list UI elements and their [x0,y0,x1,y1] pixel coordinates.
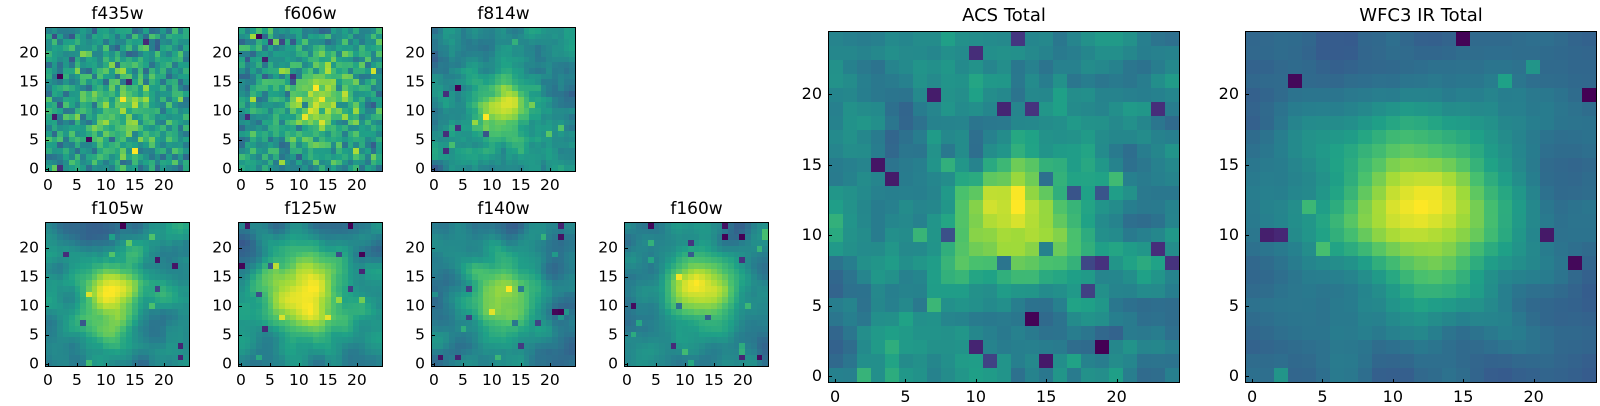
heatmap-pixel [1165,242,1179,256]
heatmap-pixel [843,186,857,200]
heatmap-pixel [1011,102,1025,116]
heatmap-pixel [829,60,843,74]
heatmap-pixel [843,256,857,270]
heatmap-pixel [1137,200,1151,214]
x-tick-label: 0 [622,373,632,389]
y-tick-mark [238,140,242,141]
x-tick-label: 10 [482,178,502,194]
heatmap-pixel [1109,270,1123,284]
heatmap-pixel [1137,242,1151,256]
heatmap-pixel [829,200,843,214]
heatmap-pixel [1123,46,1137,60]
heatmap-pixel [1137,158,1151,172]
heatmap-pixel [983,200,997,214]
heatmap-pixel [983,74,997,88]
y-tick-label: 10 [1,298,39,314]
y-tick-label: 10 [387,298,425,314]
heatmap-pixel [1039,102,1053,116]
heatmap-pixel [857,228,871,242]
heatmap-pixel [955,144,969,158]
y-tick-label: 15 [387,269,425,285]
heatmap-pixel [1123,186,1137,200]
x-tick-mark [463,168,464,172]
y-tick-mark [431,111,435,112]
heatmap-pixel [983,256,997,270]
heatmap-pixel [899,172,913,186]
heatmap-pixel [969,242,983,256]
heatmap-pixel [955,270,969,284]
heatmap-pixel [1067,116,1081,130]
heatmap-pixel [1053,46,1067,60]
heatmap-f814w [431,27,576,172]
panel-title-f125w: f125w [238,201,383,218]
heatmap-pixel [941,46,955,60]
heatmap-pixel [1095,158,1109,172]
y-tick-mark [45,140,49,141]
heatmap-pixel [997,88,1011,102]
heatmap-pixel [885,116,899,130]
heatmap-pixel [1137,172,1151,186]
heatmap-pixel [1011,32,1025,46]
panel-f125w: f125w0510152005101520 [238,222,383,367]
heatmap-pixel [983,32,997,46]
heatmap-pixel [969,74,983,88]
heatmap-pixel [1151,200,1165,214]
heatmap-pixel [1081,228,1095,242]
heatmap-pixel [1025,60,1039,74]
y-tick-label: 0 [1,161,39,177]
heatmap-pixel [1165,74,1179,88]
heatmap-pixel [1137,214,1151,228]
heatmap-pixel [1165,200,1179,214]
panel-acs-total: ACS Total0510152005101520 [828,31,1180,383]
y-tick-label: 0 [194,356,232,372]
heatmap-pixel [857,158,871,172]
heatmap-pixel [1081,200,1095,214]
heatmap-pixel [913,144,927,158]
heatmap-pixel [969,102,983,116]
heatmap-pixel [829,214,843,228]
heatmap-f435w [45,27,190,172]
x-tick-label: 20 [540,178,560,194]
heatmap-pixel [955,158,969,172]
heatmap-pixel [955,116,969,130]
heatmap-pixel [1053,116,1067,130]
panel-f160w: f160w0510152005101520 [624,222,769,367]
y-tick-mark [624,248,628,249]
heatmap-pixel [1039,130,1053,144]
x-tick-label: 5 [458,178,468,194]
heatmap-pixel [1109,32,1123,46]
x-tick-label: 15 [318,373,338,389]
heatmap-pixel [1039,172,1053,186]
heatmap-pixel [885,32,899,46]
heatmap-pixel [1039,270,1053,284]
heatmap-pixel [997,102,1011,116]
heatmap-pixel [829,270,843,284]
x-tick-mark [492,168,493,172]
heatmap-pixel [941,270,955,284]
heatmap-pixel [857,200,871,214]
heatmap-pixel [1053,242,1067,256]
heatmap-pixel [899,88,913,102]
heatmap-pixel [969,60,983,74]
heatmap-pixel [843,242,857,256]
heatmap-pixel [843,144,857,158]
heatmap-pixel [829,242,843,256]
heatmap-pixel [983,214,997,228]
panel-title-f435w: f435w [45,6,190,23]
heatmap-pixel [941,60,955,74]
heatmap-pixel [857,172,871,186]
heatmap-pixel [899,242,913,256]
heatmap-pixel [941,102,955,116]
heatmap-pixel [913,32,927,46]
heatmap-pixel [1151,242,1165,256]
heatmap-pixel [955,130,969,144]
heatmap-pixel [1095,256,1109,270]
heatmap-pixel [1067,242,1081,256]
heatmap-pixel [1011,130,1025,144]
heatmap-grid [46,28,189,171]
x-tick-label: 10 [289,178,309,194]
heatmap-pixel [1053,158,1067,172]
x-tick-label: 15 [511,178,531,194]
heatmap-pixel [1067,88,1081,102]
y-tick-mark [238,277,242,278]
heatmap-pixel [1011,200,1025,214]
heatmap-pixel [997,158,1011,172]
y-tick-mark [238,82,242,83]
heatmap-pixel [1025,242,1039,256]
heatmap-pixel [983,116,997,130]
heatmap-pixel [1081,270,1095,284]
heatmap-pixel [1053,74,1067,88]
heatmap-grid [432,223,575,366]
x-tick-label: 0 [43,373,53,389]
x-tick-mark [77,363,78,367]
heatmap-pixel [1053,214,1067,228]
heatmap-pixel [1095,60,1109,74]
y-tick-label: 20 [194,45,232,61]
heatmap-pixel [997,116,1011,130]
heatmap-grid [432,28,575,171]
heatmap-pixel [913,242,927,256]
heatmap-pixel [829,256,843,270]
heatmap-pixel [1095,172,1109,186]
heatmap-pixel [1067,130,1081,144]
heatmap-pixel [927,74,941,88]
heatmap-pixel [955,214,969,228]
heatmap-pixel [1165,186,1179,200]
heatmap-pixel [843,116,857,130]
x-tick-mark [135,168,136,172]
heatmap-pixel [1081,172,1095,186]
heatmap-pixel [1151,214,1165,228]
heatmap-pixel [183,360,189,366]
heatmap-pixel [969,228,983,242]
heatmap-pixel [941,186,955,200]
x-tick-mark [106,168,107,172]
heatmap-pixel [969,130,983,144]
heatmap-f160w [624,222,769,367]
heatmap-pixel [1011,214,1025,228]
heatmap-pixel [871,158,885,172]
x-tick-label: 10 [482,373,502,389]
heatmap-pixel [1137,144,1151,158]
heatmap-pixel [871,200,885,214]
heatmap-pixel [997,130,1011,144]
heatmap-pixel [899,60,913,74]
heatmap-pixel [997,46,1011,60]
heatmap-pixel [885,186,899,200]
heatmap-pixel [1081,102,1095,116]
heatmap-pixel [927,46,941,60]
y-tick-mark [431,53,435,54]
heatmap-pixel [1067,256,1081,270]
heatmap-pixel [969,256,983,270]
heatmap-pixel [1081,256,1095,270]
heatmap-pixel [941,74,955,88]
x-tick-mark [270,168,271,172]
y-tick-mark [45,53,49,54]
heatmap-pixel [1137,32,1151,46]
y-tick-mark [45,335,49,336]
x-tick-label: 10 [96,178,116,194]
heatmap-pixel [955,74,969,88]
y-tick-label: 15 [1,74,39,90]
heatmap-pixel [1109,130,1123,144]
heatmap-pixel [1151,46,1165,60]
heatmap-pixel [1039,256,1053,270]
y-tick-label: 10 [580,298,618,314]
heatmap-pixel [1165,144,1179,158]
x-tick-label: 5 [651,373,661,389]
x-tick-mark [270,363,271,367]
x-tick-label: 0 [236,373,246,389]
heatmap-pixel [857,102,871,116]
heatmap-pixel [885,214,899,228]
heatmap-pixel [1151,186,1165,200]
heatmap-pixel [1109,116,1123,130]
heatmap-pixel [927,256,941,270]
y-tick-mark [45,277,49,278]
heatmap-pixel [1081,130,1095,144]
heatmap-pixel [843,46,857,60]
heatmap-pixel [871,74,885,88]
heatmap-pixel [376,360,382,366]
heatmap-pixel [983,144,997,158]
heatmap-pixel [899,32,913,46]
heatmap-pixel [1137,46,1151,60]
heatmap-pixel [1151,60,1165,74]
heatmap-pixel [1109,214,1123,228]
heatmap-pixel [857,242,871,256]
x-tick-label: 0 [429,373,439,389]
x-tick-label: 20 [347,178,367,194]
heatmap-pixel [1025,172,1039,186]
heatmap-pixel [1039,116,1053,130]
heatmap-pixel [1039,214,1053,228]
x-tick-mark [328,363,329,367]
heatmap-pixel [829,102,843,116]
heatmap-pixel [1025,130,1039,144]
heatmap-pixel [1109,242,1123,256]
y-tick-mark [431,277,435,278]
heatmap-pixel [1011,256,1025,270]
heatmap-pixel [829,130,843,144]
heatmap-pixel [1011,158,1025,172]
heatmap-pixel [1137,60,1151,74]
heatmap-pixel [969,88,983,102]
heatmap-pixel [183,165,189,171]
heatmap-pixel [1137,102,1151,116]
heatmap-pixel [843,284,857,298]
heatmap-pixel [1039,144,1053,158]
x-tick-label: 15 [511,373,531,389]
y-tick-label: 15 [387,74,425,90]
heatmap-pixel [941,158,955,172]
y-tick-label: 15 [580,269,618,285]
x-tick-mark [463,363,464,367]
heatmap-pixel [983,228,997,242]
heatmap-pixel [1151,32,1165,46]
heatmap-pixel [927,158,941,172]
y-tick-label: 5 [194,327,232,343]
heatmap-pixel [955,46,969,60]
y-tick-mark [238,248,242,249]
panel-title-f814w: f814w [431,6,576,23]
heatmap-f606w [238,27,383,172]
heatmap-pixel [969,214,983,228]
heatmap-pixel [983,270,997,284]
heatmap-pixel [913,116,927,130]
y-tick-mark [431,82,435,83]
heatmap-pixel [1067,200,1081,214]
heatmap-pixel [1109,172,1123,186]
heatmap-pixel [1011,46,1025,60]
panel-f606w: f606w0510152005101520 [238,27,383,172]
heatmap-pixel [1039,242,1053,256]
heatmap-pixel [899,186,913,200]
heatmap-pixel [1165,130,1179,144]
x-tick-mark [77,168,78,172]
heatmap-pixel [1165,228,1179,242]
heatmap-pixel [913,172,927,186]
heatmap-pixel [885,144,899,158]
heatmap-pixel [1123,88,1137,102]
heatmap-pixel [955,88,969,102]
heatmap-pixel [871,60,885,74]
heatmap-pixel [969,46,983,60]
heatmap-pixel [1109,88,1123,102]
heatmap-pixel [1165,256,1179,270]
heatmap-pixel [913,186,927,200]
heatmap-pixel [1025,144,1039,158]
x-tick-mark [656,363,657,367]
y-tick-label: 5 [387,327,425,343]
x-tick-label: 5 [458,373,468,389]
heatmap-pixel [913,200,927,214]
heatmap-pixel [1151,116,1165,130]
heatmap-pixel [1109,200,1123,214]
heatmap-pixel [1039,158,1053,172]
heatmap-pixel [843,214,857,228]
heatmap-pixel [1165,46,1179,60]
y-tick-label: 15 [1,269,39,285]
heatmap-pixel [1067,228,1081,242]
heatmap-pixel [997,200,1011,214]
heatmap-pixel [1081,46,1095,60]
heatmap-pixel [1011,116,1025,130]
heatmap-pixel [913,102,927,116]
panel-title-f160w: f160w [624,201,769,218]
y-tick-label: 0 [387,356,425,372]
x-tick-mark [299,168,300,172]
heatmap-pixel [1067,102,1081,116]
heatmap-pixel [941,228,955,242]
heatmap-pixel [941,130,955,144]
y-tick-label: 5 [580,327,618,343]
heatmap-pixel [1151,74,1165,88]
heatmap-pixel [829,186,843,200]
heatmap-pixel [885,242,899,256]
heatmap-pixel [843,158,857,172]
heatmap-pixel [857,32,871,46]
heatmap-pixel [941,200,955,214]
heatmap-grid [46,223,189,366]
heatmap-pixel [941,214,955,228]
heatmap-pixel [1151,270,1165,284]
heatmap-pixel [1081,186,1095,200]
heatmap-pixel [1067,46,1081,60]
heatmap-pixel [857,270,871,284]
heatmap-pixel [1123,172,1137,186]
heatmap-pixel [1067,172,1081,186]
heatmap-pixel [997,228,1011,242]
heatmap-pixel [927,172,941,186]
heatmap-pixel [1025,214,1039,228]
y-tick-mark [45,364,49,365]
heatmap-pixel [1011,186,1025,200]
heatmap-pixel [899,158,913,172]
heatmap-pixel [1095,102,1109,116]
y-tick-mark [238,335,242,336]
heatmap-pixel [1109,144,1123,158]
heatmap-pixel [969,144,983,158]
heatmap-pixel [1025,74,1039,88]
panel-f814w: f814w0510152005101520 [431,27,576,172]
heatmap-pixel [1039,200,1053,214]
heatmap-pixel [1137,256,1151,270]
heatmap-pixel [913,228,927,242]
heatmap-pixel [941,32,955,46]
heatmap-pixel [899,256,913,270]
heatmap-pixel [885,172,899,186]
x-tick-label: 10 [289,373,309,389]
heatmap-pixel [1067,270,1081,284]
heatmap-pixel [1165,172,1179,186]
heatmap-pixel [927,32,941,46]
heatmap-pixel [1053,270,1067,284]
y-tick-mark [45,248,49,249]
heatmap-pixel [843,60,857,74]
heatmap-pixel [885,60,899,74]
x-tick-mark [164,363,165,367]
heatmap-pixel [899,46,913,60]
heatmap-pixel [1151,228,1165,242]
heatmap-pixel [1039,46,1053,60]
